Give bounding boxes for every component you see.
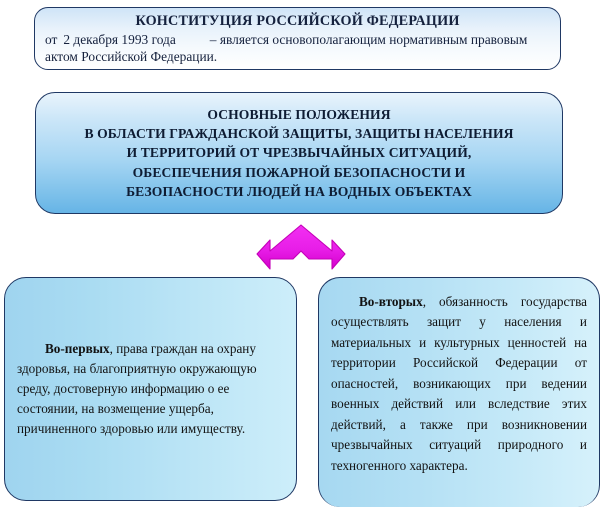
second-point-text: Во-вторых, обязанность государства осуще… — [319, 278, 599, 476]
first-point-lead: Во-первых — [45, 341, 110, 356]
constitution-box: КОНСТИТУЦИЯ РОССИЙСКОЙ ФЕДЕРАЦИИ от2 дек… — [34, 7, 561, 70]
constitution-body-prefix: от — [45, 32, 57, 47]
provisions-line-5: БЕЗОПАСНОСТИ ЛЮДЕЙ НА ВОДНЫХ ОБЪЕКТАХ — [42, 182, 556, 201]
provisions-line-1: ОСНОВНЫЕ ПОЛОЖЕНИЯ — [42, 105, 556, 124]
first-point-text: Во-первых, права граждан на охрану здоро… — [5, 339, 296, 439]
constitution-body: от2 декабря 1993 года– является основопо… — [45, 31, 550, 65]
main-provisions-text: ОСНОВНЫЕ ПОЛОЖЕНИЯ В ОБЛАСТИ ГРАЖДАНСКОЙ… — [36, 105, 562, 201]
split-arrow-icon — [256, 224, 346, 272]
second-point-lead: Во-вторых — [359, 294, 423, 309]
constitution-body-date: 2 декабря 1993 года — [63, 32, 175, 47]
provisions-line-2: В ОБЛАСТИ ГРАЖДАНСКОЙ ЗАЩИТЫ, ЗАЩИТЫ НАС… — [42, 124, 556, 143]
second-point-body: , обязанность государства осуществлять з… — [331, 294, 587, 473]
main-provisions-box: ОСНОВНЫЕ ПОЛОЖЕНИЯ В ОБЛАСТИ ГРАЖДАНСКОЙ… — [35, 92, 563, 214]
provisions-line-4: ОБЕСПЕЧЕНИЯ ПОЖАРНОЙ БЕЗОПАСНОСТИ И — [42, 163, 556, 182]
diagram-canvas: КОНСТИТУЦИЯ РОССИЙСКОЙ ФЕДЕРАЦИИ от2 дек… — [0, 0, 600, 507]
provisions-line-3: И ТЕРРИТОРИЙ ОТ ЧРЕЗВЫЧАЙНЫХ СИТУАЦИЙ, — [42, 143, 556, 162]
constitution-heading: КОНСТИТУЦИЯ РОССИЙСКОЙ ФЕДЕРАЦИИ — [45, 13, 550, 30]
first-point-box: Во-первых, права граждан на охрану здоро… — [4, 277, 297, 501]
second-point-box: Во-вторых, обязанность государства осуще… — [318, 277, 600, 507]
